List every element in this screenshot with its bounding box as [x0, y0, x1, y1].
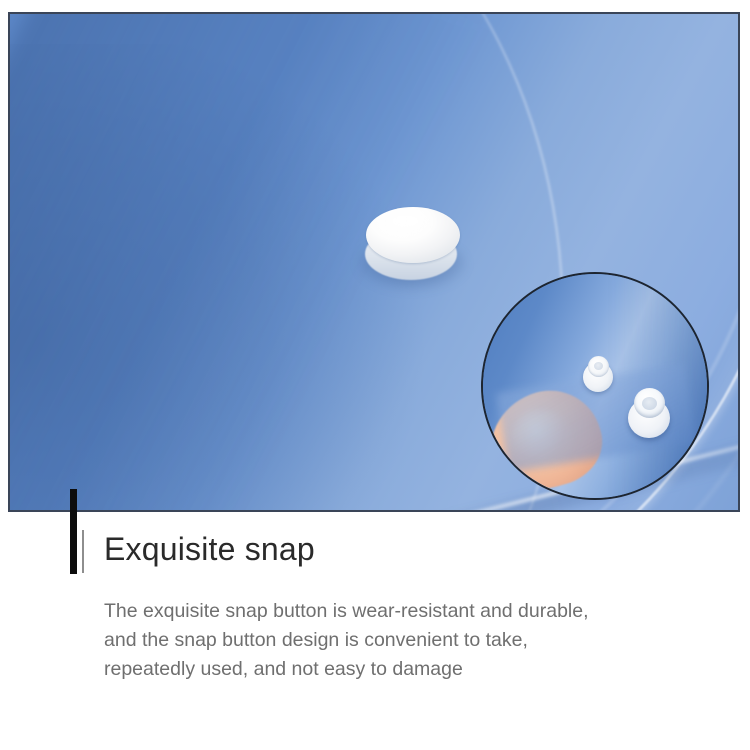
snap-hole — [642, 397, 657, 410]
snap-button-gloss — [382, 213, 434, 233]
feature-title: Exquisite snap — [104, 529, 315, 569]
description-line-2: and the snap button design is convenient… — [104, 626, 684, 655]
accent-bar-secondary — [82, 530, 84, 573]
magnified-snap-button-upper — [583, 354, 613, 392]
description-line-1: The exquisite snap button is wear-resist… — [104, 597, 684, 626]
magnified-snap-button-lower — [628, 386, 670, 438]
snap-hole — [594, 362, 603, 370]
product-image-panel — [8, 12, 740, 512]
magnifier-inset — [481, 272, 709, 500]
feature-description: The exquisite snap button is wear-resist… — [104, 597, 684, 684]
accent-bar — [70, 489, 77, 574]
description-line-3: repeatedly used, and not easy to damage — [104, 655, 684, 684]
